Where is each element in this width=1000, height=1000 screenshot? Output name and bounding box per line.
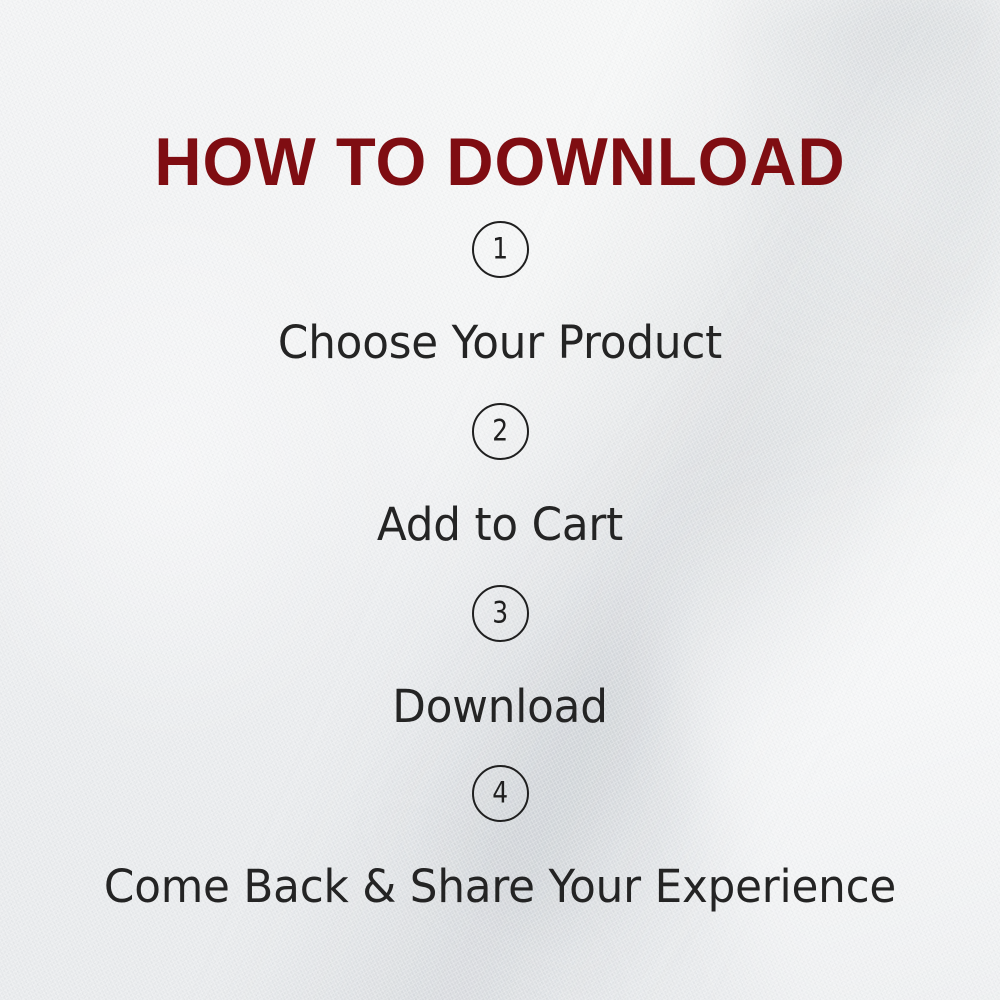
step-number-badge-1: 1 bbox=[472, 221, 529, 278]
step-number-2: 2 bbox=[492, 417, 508, 446]
step-item-4: 4 Come Back & Share Your Experience bbox=[0, 765, 1000, 910]
step-number-badge-4: 4 bbox=[472, 765, 529, 822]
step-label-2: Add to Cart bbox=[15, 501, 985, 548]
step-label-1: Choose Your Product bbox=[15, 319, 985, 366]
step-item-2: 2 Add to Cart bbox=[0, 403, 1000, 548]
step-item-1: 1 Choose Your Product bbox=[0, 221, 1000, 366]
step-number-4: 4 bbox=[492, 779, 508, 808]
step-number-badge-3: 3 bbox=[472, 585, 529, 642]
page-title: HOW TO DOWNLOAD bbox=[20, 128, 980, 196]
step-number-1: 1 bbox=[492, 235, 508, 264]
step-number-badge-2: 2 bbox=[472, 403, 529, 460]
step-number-3: 3 bbox=[492, 599, 508, 628]
poster-content: HOW TO DOWNLOAD 1 Choose Your Product 2 … bbox=[0, 0, 1000, 1000]
step-label-4: Come Back & Share Your Experience bbox=[15, 863, 985, 910]
step-item-3: 3 Download bbox=[0, 585, 1000, 730]
step-label-3: Download bbox=[15, 683, 985, 730]
how-to-download-poster: HOW TO DOWNLOAD 1 Choose Your Product 2 … bbox=[0, 0, 1000, 1000]
